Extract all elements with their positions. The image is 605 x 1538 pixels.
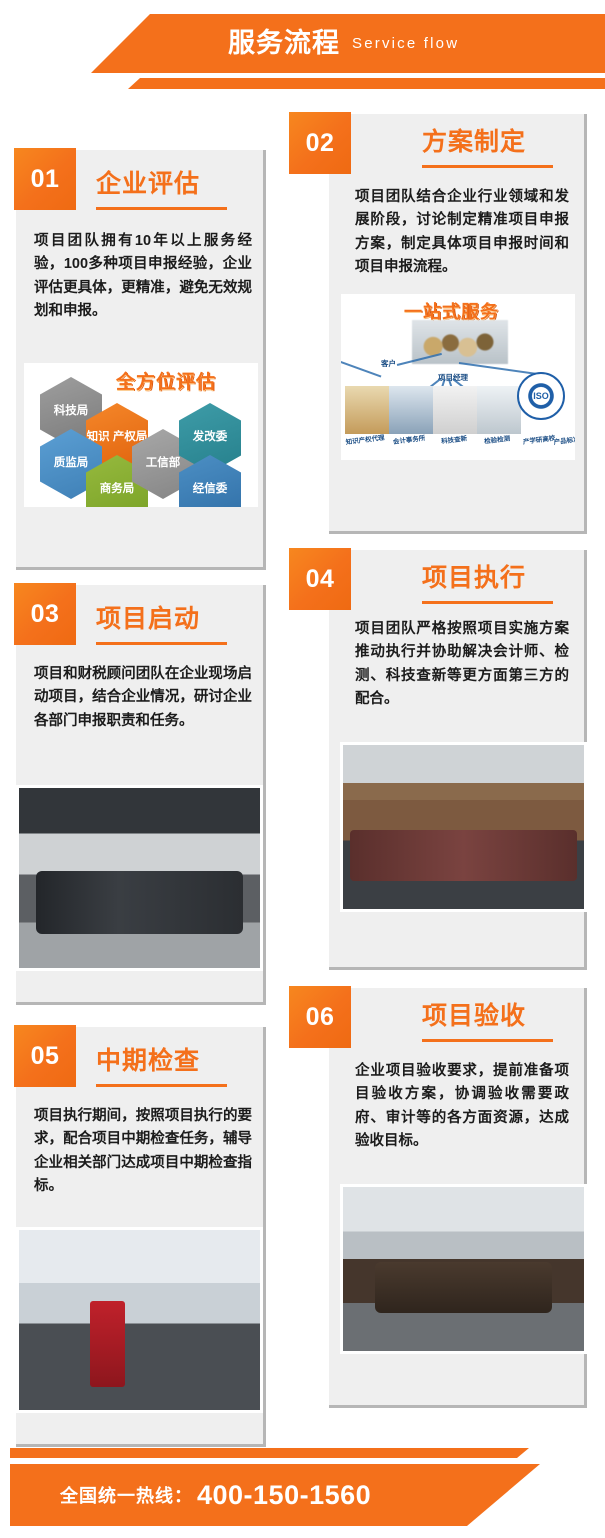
one-stop-service-diagram: 一站式服务 客户 项目经理 ISO 知识产权代理 会计事务所: [341, 294, 575, 460]
thumb-tech-search: [433, 386, 477, 434]
step-number-badge: 03: [14, 583, 76, 645]
photo-showroom-visit: [16, 1227, 263, 1413]
step-description: 项目团队结合企业行业领域和发展阶段，讨论制定精准项目申报方案，制定具体项目申报时…: [355, 186, 569, 280]
step-description: 项目团队拥有10年以上服务经验，100多种项目申报经验，企业评估更具体，更精准，…: [34, 230, 252, 324]
header-orange-stripe: [0, 78, 605, 89]
page-title-cn: 服务流程: [228, 30, 340, 57]
step-title: 企业评估: [96, 172, 200, 197]
step-number-badge: 02: [289, 112, 351, 174]
hotline-group: 全国统一热线： 400-150-1560: [10, 1464, 605, 1526]
step-title: 中期检查: [96, 1049, 200, 1074]
step-number-badge: 04: [289, 548, 351, 610]
title-underline: [422, 1039, 553, 1042]
service-step-card-03[interactable]: 03 项目启动 项目和财税顾问团队在企业现场启动项目，结合企业情况，研讨企业各部…: [16, 585, 266, 1005]
title-underline: [422, 601, 553, 604]
node-customer: 客户: [381, 358, 396, 369]
service-step-card-05[interactable]: 05 中期检查 项目执行期间，按照项目执行的要求，配合项目中期检查任务，辅导企业…: [16, 1027, 266, 1447]
hotline-label: 全国统一热线：: [60, 1482, 193, 1508]
step-media-photo: [16, 785, 263, 971]
service-step-card-02[interactable]: 02 方案制定 项目团队结合企业行业领域和发展阶段，讨论制定精准项目申报方案，制…: [329, 114, 587, 534]
page-header: 服务流程 Service flow: [0, 0, 605, 112]
step-media-photo: [340, 742, 587, 912]
step-title: 项目执行: [422, 566, 526, 591]
step-number-badge: 01: [14, 148, 76, 210]
title-underline: [96, 1084, 227, 1087]
service-flow-grid: 01 企业评估 项目团队拥有10年以上服务经验，100多种项目申报经验，企业评估…: [0, 108, 605, 1398]
step-description: 项目执行期间，按照项目执行的要求，配合项目中期检查任务，辅导企业相关部门达成项目…: [34, 1105, 252, 1199]
page-footer: 全国统一热线： 400-150-1560: [0, 1406, 605, 1538]
title-underline: [422, 165, 553, 168]
hotline-number[interactable]: 400-150-1560: [197, 1480, 371, 1511]
step-media-one-stop-service-diagram: 一站式服务 客户 项目经理 ISO 知识产权代理 会计事务所: [341, 294, 575, 460]
service-step-card-06[interactable]: 06 项目验收 企业项目验收要求，提前准备项目验收方案，协调验收需要政府、审计等…: [329, 988, 587, 1408]
arrow-to-left-branch: [341, 352, 381, 377]
node-project-manager: 项目经理: [438, 372, 468, 383]
step-title: 项目验收: [422, 1004, 526, 1029]
step-title: 项目启动: [96, 607, 200, 632]
title-underline: [96, 207, 227, 210]
step-number-badge: 05: [14, 1025, 76, 1087]
iso-seal-icon: ISO: [517, 372, 565, 420]
step-media-photo: [16, 1227, 263, 1413]
page-title-en: Service flow: [352, 36, 459, 51]
thumb-ip-agency: [345, 386, 389, 434]
thumb-accounting-firm: [389, 386, 433, 434]
step-description: 项目团队严格按照项目实施方案推动执行并协助解决会计师、检测、科技查新等更方面第三…: [355, 618, 569, 712]
step-media-photo: [340, 1184, 587, 1354]
step-description: 企业项目验收要求，提前准备项目验收方案，协调验收需要政府、审计等的各方面资源，达…: [355, 1060, 569, 1154]
service-step-card-01[interactable]: 01 企业评估 项目团队拥有10年以上服务经验，100多种项目申报经验，企业评估…: [16, 150, 266, 570]
service-step-card-04[interactable]: 04 项目执行 项目团队严格按照项目实施方案推动执行并协助解决会计师、检测、科技…: [329, 550, 587, 970]
step-description: 项目和财税顾问团队在企业现场启动项目，结合企业情况，研讨企业各部门申报职责和任务…: [34, 663, 252, 733]
hexagon-diagram: 全方位评估 科技局 知识 产权局 质监局 商务局 工信部 发改委 经信委: [24, 363, 258, 507]
footer-orange-stripe: [10, 1448, 605, 1458]
thumb-inspection: [477, 386, 521, 434]
header-title-group: 服务流程 Service flow: [0, 14, 605, 73]
photo-working-session: [340, 742, 587, 912]
hexagon-diagram-title: 全方位评估: [116, 367, 216, 394]
title-underline: [96, 642, 227, 645]
photo-acceptance-review: [340, 1184, 587, 1354]
step-number-badge: 06: [289, 986, 351, 1048]
photo-meeting-room: [16, 785, 263, 971]
step-media-hexagon-infographic: 全方位评估 科技局 知识 产权局 质监局 商务局 工信部 发改委 经信委: [24, 363, 258, 507]
step-title: 方案制定: [422, 130, 526, 155]
